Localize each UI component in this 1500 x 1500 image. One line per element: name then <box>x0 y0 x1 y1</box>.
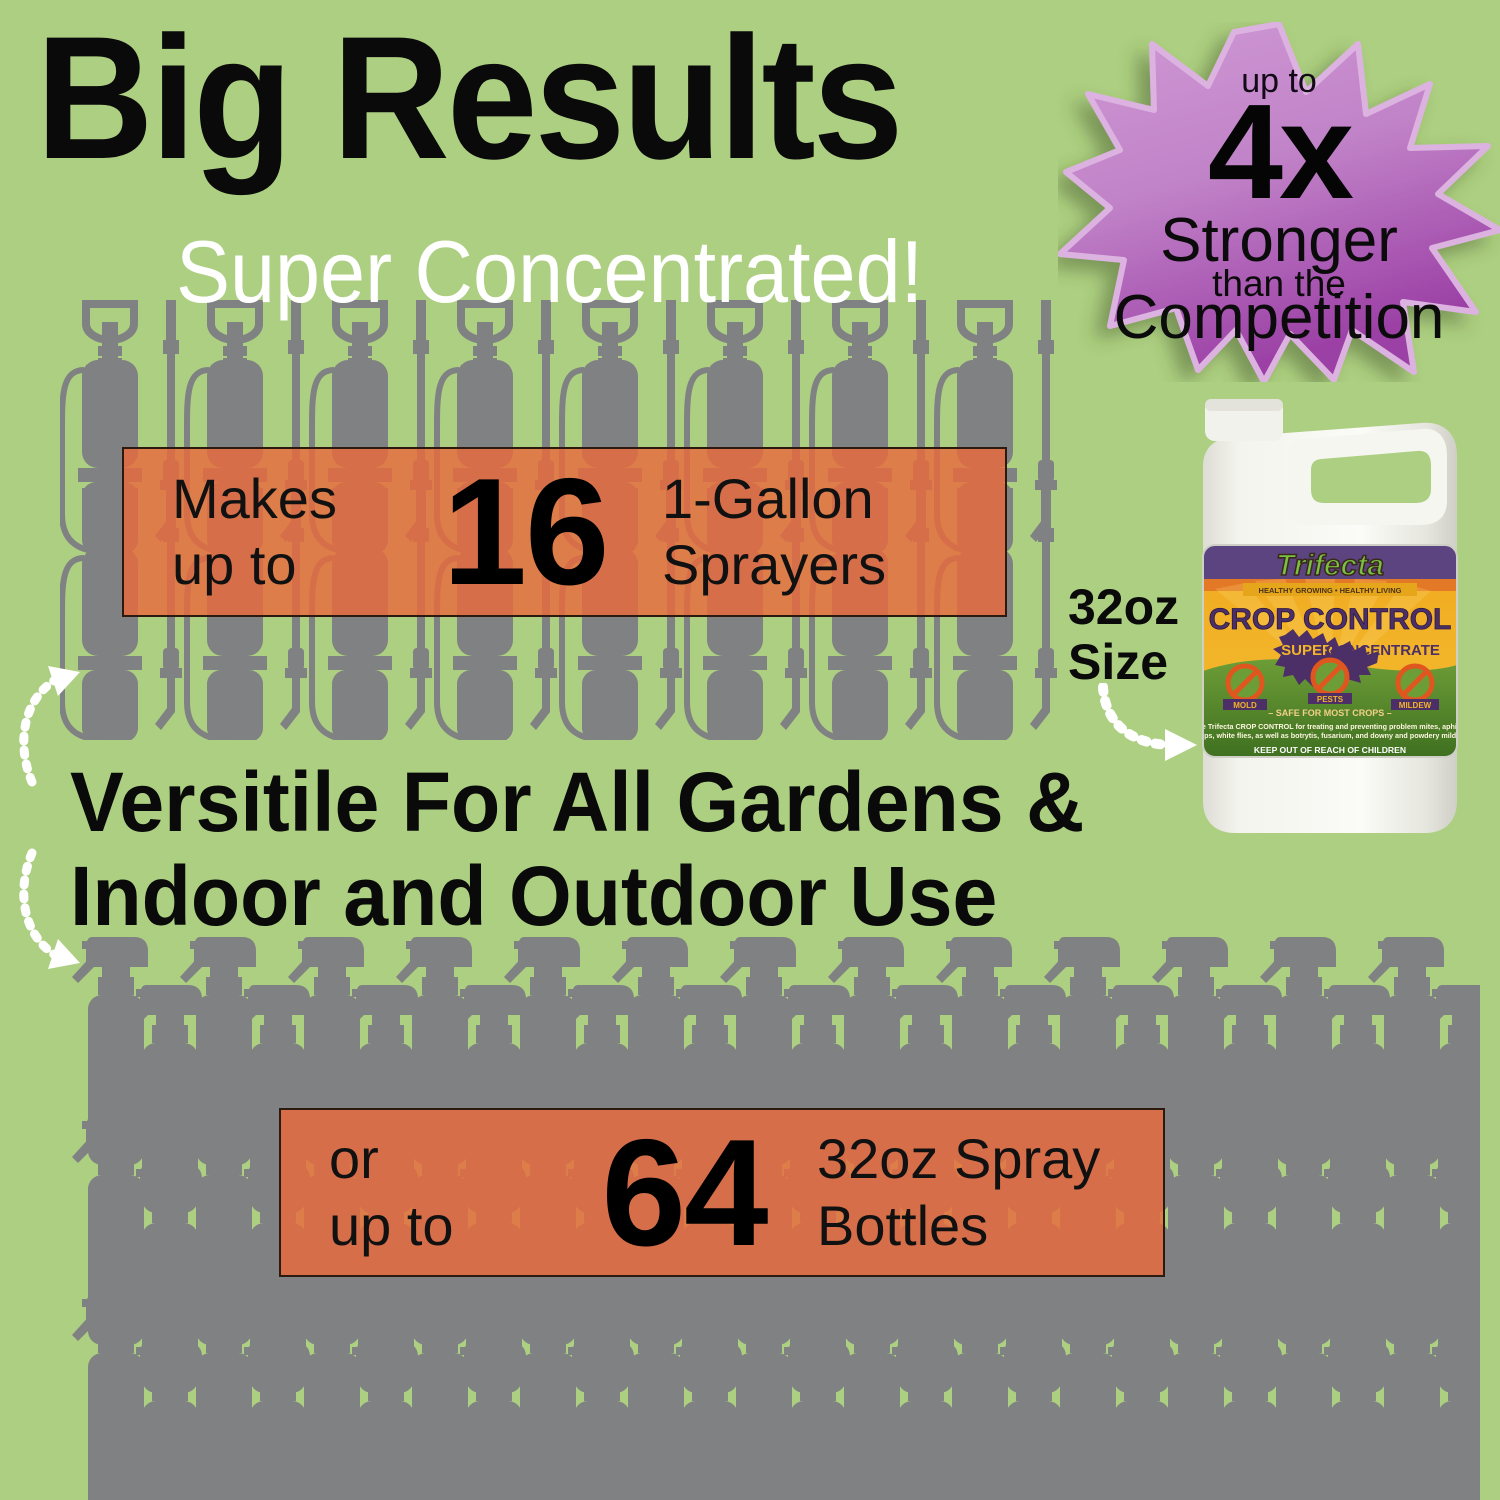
versatile-heading-line1: Versitile For All Gardens & <box>70 755 1084 849</box>
versatile-heading: Versitile For All Gardens & Indoor and O… <box>70 755 1084 943</box>
versatile-heading-line2: Indoor and Outdoor Use <box>70 849 1084 943</box>
page-title: Big Results <box>36 16 901 182</box>
strength-badge: up to 4x Stronger than the Competition <box>1058 22 1500 382</box>
bottles-claim-trail-line2: Bottles <box>817 1193 1100 1259</box>
size-caption-line1: 32oz <box>1068 580 1179 635</box>
sprayers-claim-banner: Makes up to 16 1-Gallon Sprayers <box>122 447 1007 617</box>
label-brand-text: Trifecta <box>1276 549 1384 582</box>
bottles-claim-banner: or up to 64 32oz Spray Bottles <box>279 1108 1165 1277</box>
bottles-claim-trail-line1: 32oz Spray <box>817 1126 1100 1192</box>
sprayers-claim-trail-line1: 1-Gallon <box>662 466 886 532</box>
svg-text:HEALTHY GROWING • HEALTHY LIVI: HEALTHY GROWING • HEALTHY LIVING <box>1259 586 1402 595</box>
bottles-claim-number: 64 <box>559 1117 809 1269</box>
page-subtitle: Super Concentrated! <box>176 228 923 316</box>
callout-arrow-up-icon <box>18 660 88 790</box>
badge-multiplier: 4x <box>1058 84 1500 219</box>
product-bottle-image: Trifecta HEALTHY GROWING • HEALTHY LIVIN… <box>1175 383 1485 838</box>
size-caption: 32oz Size <box>1068 580 1179 690</box>
sprayers-claim-number: 16 <box>410 456 640 608</box>
svg-text:CROP CONTROL: CROP CONTROL <box>1209 603 1452 636</box>
svg-text:PESTS: PESTS <box>1317 695 1344 704</box>
infographic-canvas: Big Results Super Concentrated! up to 4x <box>0 0 1500 1500</box>
svg-text:KEEP OUT OF REACH OF CHILDREN: KEEP OUT OF REACH OF CHILDREN <box>1254 745 1406 755</box>
bottles-claim-lead-line1: or <box>329 1126 549 1192</box>
bottles-claim-lead-line2: up to <box>329 1193 549 1259</box>
sprayers-claim-lead: Makes up to <box>172 466 392 598</box>
sprayers-claim-lead-line2: up to <box>172 532 392 598</box>
svg-text:MOLD: MOLD <box>1233 701 1257 710</box>
crop-control-jug-icon: Trifecta HEALTHY GROWING • HEALTHY LIVIN… <box>1175 383 1485 838</box>
svg-text:Use Trifecta CROP CONTROL for: Use Trifecta CROP CONTROL for treating a… <box>1193 722 1468 731</box>
svg-text:– SAFE FOR MOST CROPS –: – SAFE FOR MOST CROPS – <box>1268 708 1392 718</box>
svg-text:CONCENTRATE: CONCENTRATE <box>1326 642 1440 659</box>
sprayers-claim-trail: 1-Gallon Sprayers <box>662 466 886 598</box>
callout-arrow-down-icon <box>18 845 88 975</box>
svg-text:MILDEW: MILDEW <box>1399 701 1432 710</box>
badge-competition-label: Competition <box>1058 287 1500 349</box>
svg-text:thrips, white flies, as well a: thrips, white flies, as well as botrytis… <box>1193 731 1468 740</box>
bottles-claim-trail: 32oz Spray Bottles <box>817 1126 1100 1258</box>
sprayers-claim-lead-line1: Makes <box>172 466 392 532</box>
bottles-claim-lead: or up to <box>329 1126 549 1258</box>
size-caption-line2: Size <box>1068 635 1179 690</box>
size-pointer-arrow-icon <box>1095 683 1205 763</box>
sprayers-claim-trail-line2: Sprayers <box>662 532 886 598</box>
